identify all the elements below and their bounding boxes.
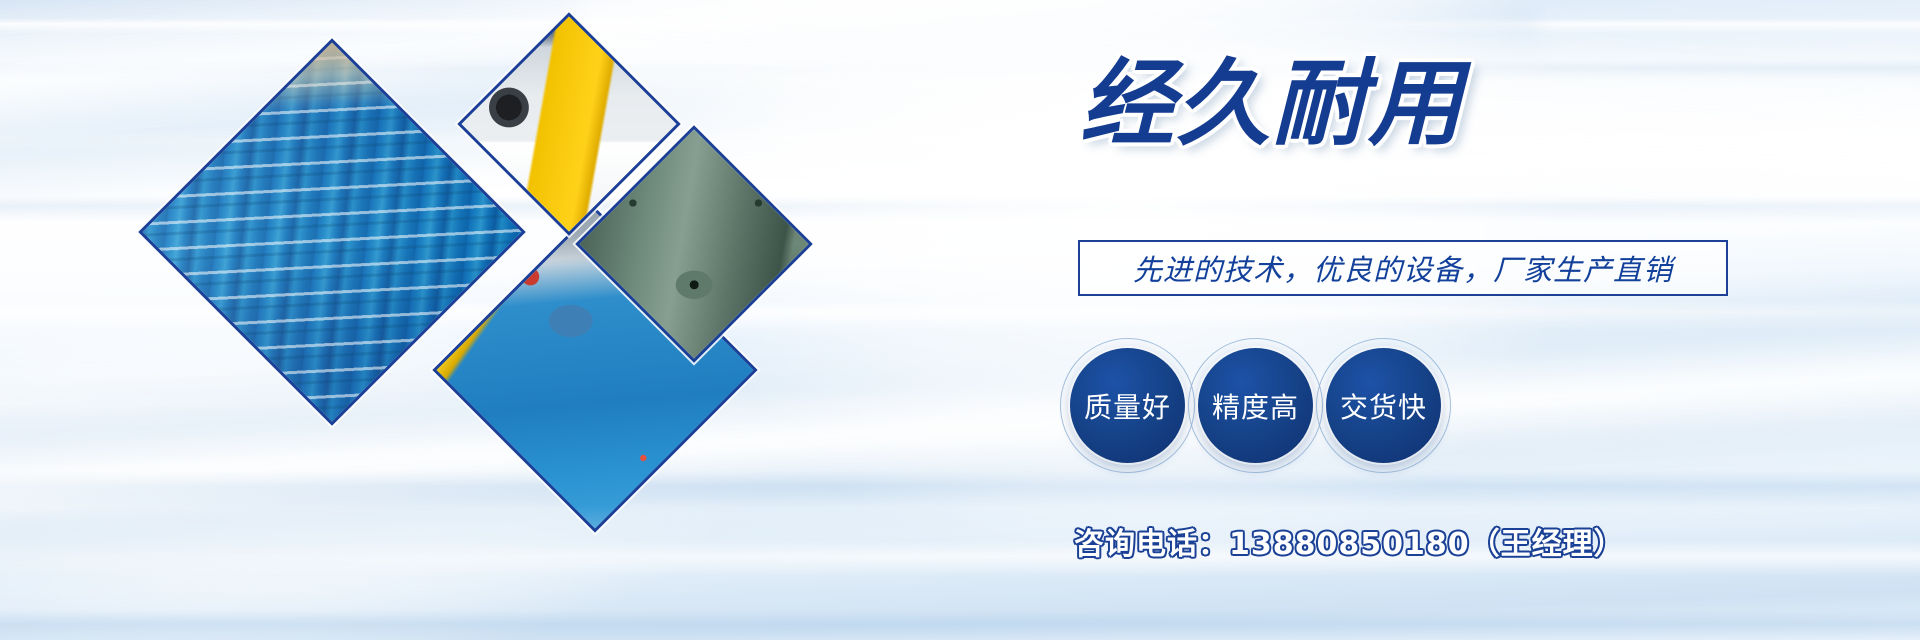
feature-badge-precision[interactable]: 精度高 [1198,348,1313,463]
banner-content: 经久耐用 先进的技术，优良的设备，厂家生产直销 质量好 精度高 交货快 [1062,0,1762,640]
contact-phone[interactable]: 咨询电话：13880850180（王经理） [1074,519,1625,563]
badge-disc: 交货快 [1326,348,1441,463]
banner-headline: 经久耐用 [1080,50,1464,161]
product-image-collage [150,20,830,620]
badge-label: 交货快 [1340,386,1427,426]
badge-disc: 质量好 [1070,348,1185,463]
feature-badge-quality[interactable]: 质量好 [1070,348,1185,463]
subtitle-box: 先进的技术，优良的设备，厂家生产直销 [1078,240,1728,296]
promo-banner: 经久耐用 先进的技术，优良的设备，厂家生产直销 质量好 精度高 交货快 [0,0,1920,640]
badge-label: 质量好 [1084,386,1171,426]
badge-label: 精度高 [1212,386,1299,426]
badge-disc: 精度高 [1198,348,1313,463]
feature-badge-delivery[interactable]: 交货快 [1326,348,1441,463]
banner-subtitle: 先进的技术，优良的设备，厂家生产直销 [1133,247,1673,289]
feature-badges: 质量好 精度高 交货快 [1070,348,1441,463]
